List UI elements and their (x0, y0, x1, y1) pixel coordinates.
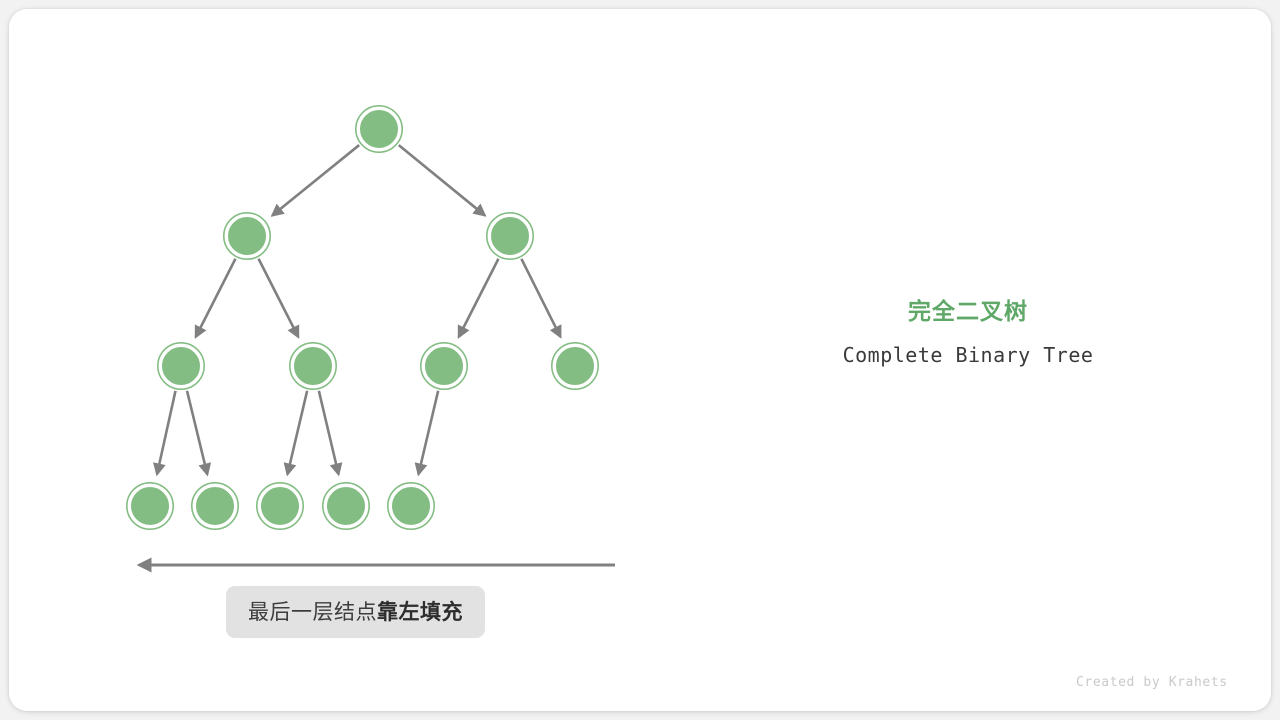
node-fill (359, 109, 399, 149)
node-fill (195, 486, 235, 526)
tree-node (192, 483, 238, 529)
tree-node (487, 213, 533, 259)
tree-edge (459, 259, 499, 337)
tree-edge (399, 145, 485, 215)
tree-edge (157, 391, 175, 474)
tree-node (323, 483, 369, 529)
tree-edge (196, 259, 236, 337)
page-subtitle: Complete Binary Tree (768, 343, 1168, 367)
node-fill (555, 346, 595, 386)
tree-node (158, 343, 204, 389)
tree-node (552, 343, 598, 389)
page-title: 完全二叉树 (768, 296, 1168, 326)
tree-edge (418, 391, 438, 475)
node-fill (260, 486, 300, 526)
tree-node (356, 106, 402, 152)
tree-node (127, 483, 173, 529)
node-fill (391, 486, 431, 526)
tree-node (290, 343, 336, 389)
node-fill (424, 346, 464, 386)
node-fill (161, 346, 201, 386)
tree-edge (319, 391, 339, 475)
tree-node (388, 483, 434, 529)
annotation-text-plain: 最后一层结点 (248, 601, 377, 624)
tree-edge (287, 391, 307, 475)
node-fill (490, 216, 530, 256)
tree-edge (187, 391, 207, 475)
node-fill (227, 216, 267, 256)
caption-block: 完全二叉树 Complete Binary Tree (768, 296, 1168, 367)
credit-text: Created by Krahets (1076, 675, 1228, 690)
tree-node (421, 343, 467, 389)
node-fill (293, 346, 333, 386)
node-fill (130, 486, 170, 526)
tree-node (257, 483, 303, 529)
node-fill (326, 486, 366, 526)
tree-edge (521, 259, 560, 337)
tree-node (224, 213, 270, 259)
tree-nodes (127, 106, 598, 529)
diagram-canvas: 完全二叉树 Complete Binary Tree 最后一层结点靠左填充 Cr… (0, 0, 1280, 720)
tree-edges (157, 145, 560, 474)
tree-edge (272, 145, 359, 215)
annotation-text-bold: 靠左填充 (377, 601, 463, 624)
tree-edge (259, 259, 299, 337)
annotation-badge: 最后一层结点靠左填充 (226, 586, 485, 638)
